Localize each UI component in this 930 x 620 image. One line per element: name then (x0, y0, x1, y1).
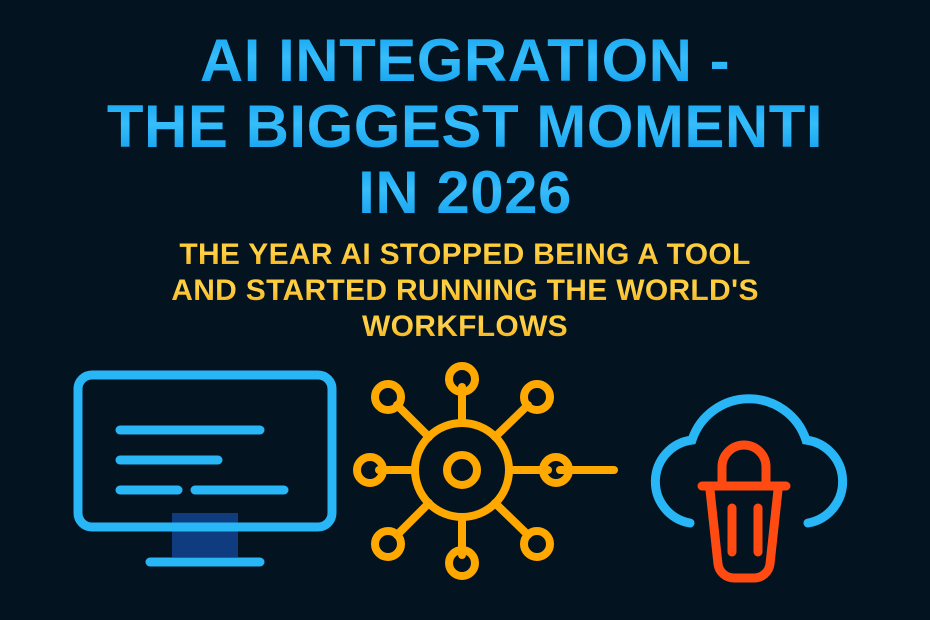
network-node-nw (375, 384, 401, 410)
network-outer-ring (415, 423, 509, 517)
subheadline-line-3: WORKFLOWS (0, 309, 930, 345)
network-node-ne (524, 384, 550, 410)
network-spoke-nw (397, 405, 429, 437)
subheadline-line-1: THE YEAR AI STOPPED BEING A TOOL (0, 237, 930, 273)
network-hub-icon-svg (352, 365, 612, 585)
icon-row (0, 360, 930, 605)
network-node-se (524, 531, 550, 557)
network-node-s (449, 550, 475, 576)
cloud-delete-icon-svg (618, 368, 878, 593)
subheadline-line-2: AND STARTED RUNNING THE WORLD'S (0, 273, 930, 309)
monitor-stand-neck (172, 513, 238, 557)
monitor-document-icon-svg (60, 365, 350, 595)
cloud-outline (655, 399, 842, 523)
network-spoke-sw (397, 503, 429, 535)
network-node-n (449, 366, 475, 392)
poster-canvas: AI INTEGRATION - THE BIGGEST MOMENTI IN … (0, 0, 930, 620)
monitor-screen-bezel (78, 375, 332, 527)
network-hub-icon (352, 365, 612, 585)
headline-line-1: AI INTEGRATION - (0, 28, 930, 94)
headline-line-3: IN 2026 (0, 160, 930, 226)
network-node-w (357, 457, 383, 483)
network-spoke-ne (495, 405, 528, 437)
subheadline: THE YEAR AI STOPPED BEING A TOOL AND STA… (0, 237, 930, 345)
headline-line-2: THE BIGGEST MOMENTI (0, 94, 930, 160)
network-node-sw (375, 531, 401, 557)
monitor-document-icon (60, 365, 350, 595)
network-hub-core (447, 455, 477, 485)
trash-body (710, 490, 778, 578)
headline: AI INTEGRATION - THE BIGGEST MOMENTI IN … (0, 28, 930, 226)
network-spoke-se (495, 503, 528, 535)
trash-lid-handle (722, 445, 766, 481)
cloud-delete-icon (618, 368, 878, 593)
